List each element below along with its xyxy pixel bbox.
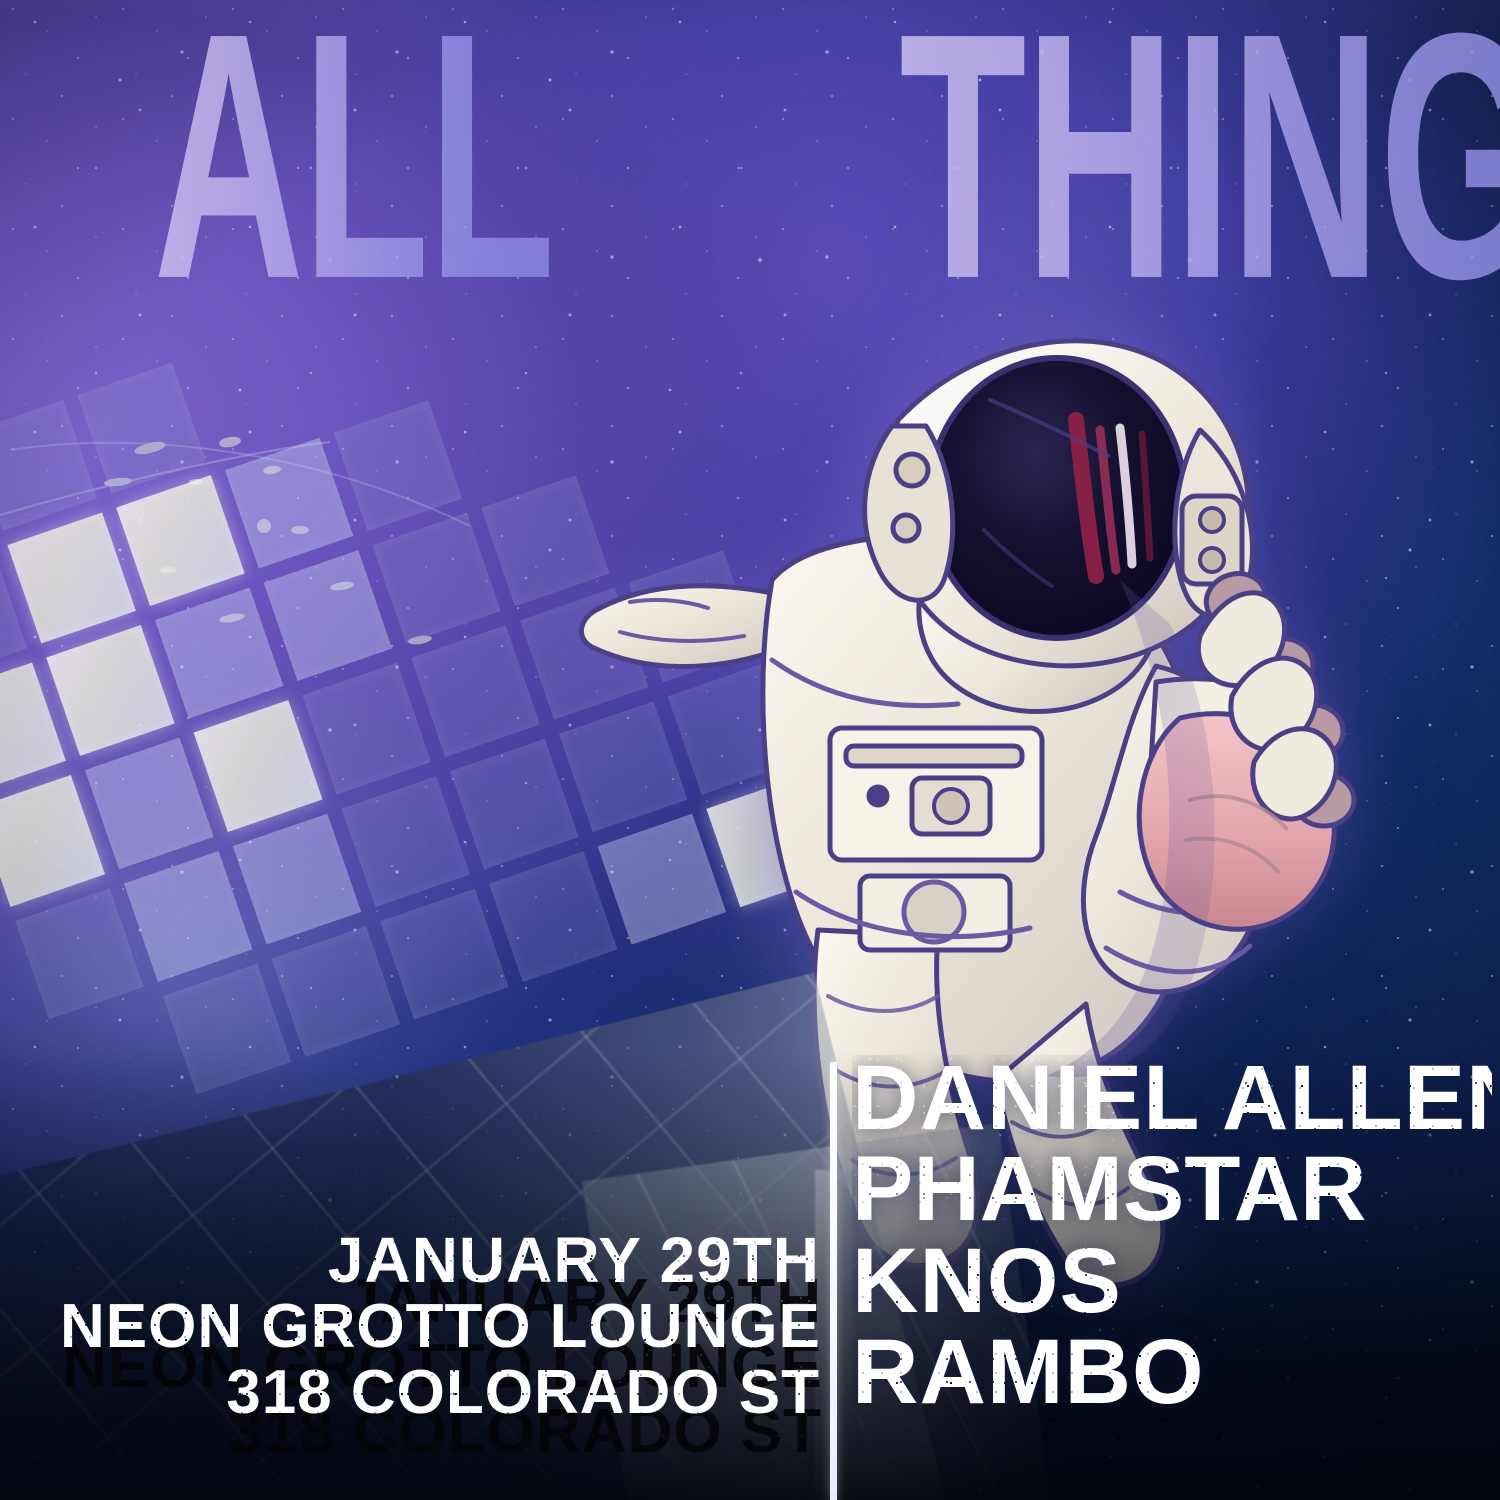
artist-name-2: Phamstar — [852, 1146, 1492, 1233]
vertical-divider — [830, 1062, 837, 1500]
artist-name-1: Daniel Allen — [852, 1055, 1492, 1142]
event-details: January 29th Neon Grotto Lounge 318 Colo… — [60, 1228, 820, 1426]
artist-lineup: Daniel Allen Phamstar Knos Rambo — [852, 1055, 1492, 1421]
artist-name-3: Knos — [852, 1238, 1492, 1325]
event-address: 318 Colorado St — [60, 1361, 820, 1424]
event-date: January 29th — [60, 1228, 820, 1293]
artist-name-4: Rambo — [852, 1329, 1492, 1416]
event-venue: Neon Grotto Lounge — [60, 1295, 820, 1358]
event-flyer-poster: ALL THINGS DEEP ALL THINGS DEEP January … — [0, 0, 1500, 1500]
